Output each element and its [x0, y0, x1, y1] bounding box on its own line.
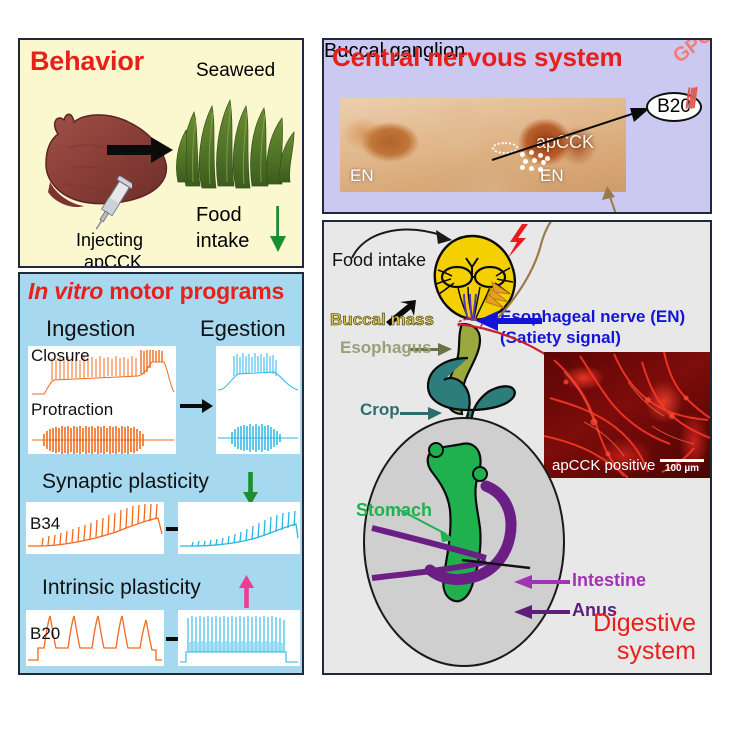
right-arrow-icon — [107, 136, 175, 164]
apcck-positive-label: apCCK positive — [552, 457, 655, 474]
panel-central-nervous-system: Central nervous system Buccal ganglion E… — [322, 38, 712, 214]
food-intake-down-arrow-icon — [268, 206, 290, 254]
b34-ingestion-trace-panel: B34 — [26, 502, 164, 554]
intrinsic-plasticity-up-arrow-icon — [238, 574, 256, 608]
synaptic-plasticity-heading: Synaptic plasticity — [42, 470, 209, 494]
scale-bar-line — [660, 459, 704, 462]
ingestion-heading: Ingestion — [46, 316, 135, 342]
b20-trace-label: B20 — [30, 624, 60, 644]
b34-apcck-trace — [178, 502, 300, 554]
panel-digestive-system: Food intake — [322, 220, 712, 675]
seaweed-icon — [172, 86, 302, 194]
injecting-label-line1: Injecting — [76, 230, 143, 251]
egestion-traces — [216, 346, 300, 454]
stomach-label: Stomach — [356, 500, 432, 521]
invitro-title-italic: In vitro — [28, 278, 103, 304]
intrinsic-plasticity-heading: Intrinsic plasticity — [42, 576, 201, 600]
digestive-title-line2: system — [593, 637, 696, 665]
behavior-panel-title: Behavior — [30, 46, 144, 77]
en-label-left: EN — [350, 166, 374, 186]
digestive-system-title: Digestive system — [593, 609, 696, 665]
synaptic-plasticity-down-arrow-icon — [242, 472, 260, 506]
egestion-heading: Egestion — [200, 316, 286, 342]
ascending-nerve-path — [480, 220, 600, 324]
egestion-trace-panel — [216, 346, 300, 454]
en-input-arrow-icon — [600, 186, 630, 214]
closure-trace-label: Closure — [31, 346, 90, 366]
ingestion-to-egestion-arrow-icon — [180, 396, 214, 416]
buccal-mass-label: Buccal mass — [330, 310, 434, 330]
digestive-title-line1: Digestive — [593, 609, 696, 637]
esophagus-label: Esophagus — [340, 338, 432, 358]
syringe-icon — [92, 176, 132, 238]
intestine-pointer-arrow-icon — [512, 574, 572, 590]
b34-trace-label: B34 — [30, 514, 60, 534]
lightning-bolt-icon — [506, 224, 532, 260]
anus-pointer-arrow-icon — [512, 604, 572, 620]
b20-apcck-trace-panel — [178, 610, 300, 666]
graphical-abstract-figure: Behavior — [0, 0, 730, 730]
body-cavity-diagram — [344, 402, 612, 670]
seaweed-label: Seaweed — [196, 60, 275, 82]
panel-in-vitro-motor-programs: In vitro motor programs Ingestion Egesti… — [18, 272, 304, 675]
food-intake-line2: intake — [196, 230, 249, 253]
invitro-panel-title: In vitro motor programs — [28, 278, 284, 305]
intestine-label: Intestine — [572, 570, 646, 591]
b20-control-trace-panel: B20 — [26, 610, 164, 666]
scale-bar-value: 100 µm — [660, 463, 704, 474]
injecting-label-line2: apCCK — [84, 252, 142, 268]
invitro-title-rest: motor programs — [103, 278, 284, 304]
b34-apcck-trace-panel — [178, 502, 300, 554]
b20-apcck-trace — [178, 610, 300, 666]
ingestion-trace-panel: Closure Protraction — [28, 346, 176, 454]
panel-behavior: Behavior — [18, 38, 304, 268]
protraction-trace-label: Protraction — [31, 400, 113, 420]
food-intake-line1: Food — [196, 204, 242, 227]
scale-bar: 100 µm — [660, 459, 704, 474]
cns-panel-title: Central nervous system — [332, 42, 622, 73]
food-intake-label: Food intake — [332, 250, 426, 271]
